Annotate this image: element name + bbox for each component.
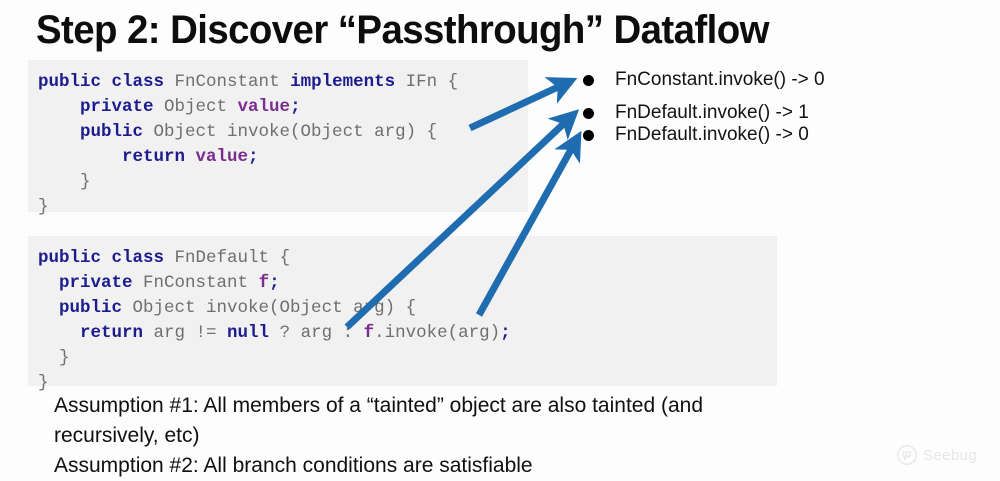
code-line: return value; (38, 145, 528, 170)
code-identifier: arg != (143, 323, 227, 343)
seebug-logo-icon (896, 444, 918, 466)
bullet-icon (583, 75, 594, 86)
trace-label: FnDefault.invoke() -> 1 (615, 102, 809, 124)
code-identifier: FnDefault { (164, 248, 290, 268)
code-identifier: .invoke(arg) (374, 323, 500, 343)
code-line: public Object invoke(Object arg) { (38, 120, 528, 145)
list-item: FnConstant.invoke() -> 0 (583, 68, 825, 92)
code-line: public Object invoke(Object arg) { (38, 296, 777, 321)
bullet-icon (583, 108, 594, 119)
code-identifier: Object (154, 97, 238, 117)
code-line: private Object value; (38, 95, 528, 120)
code-punct: ; (248, 147, 259, 167)
code-keyword: public (80, 122, 143, 142)
code-punct: ; (269, 273, 280, 293)
code-line: public class FnConstant implements IFn { (38, 70, 528, 95)
code-block-fndefault: public class FnDefault { private FnConst… (28, 236, 777, 386)
code-field: value (238, 97, 291, 117)
code-line: private FnConstant f; (38, 271, 777, 296)
code-line: } (38, 170, 528, 195)
trace-label: FnConstant.invoke() -> 0 (615, 69, 825, 91)
code-keyword: public (38, 72, 101, 92)
code-line: } (38, 195, 528, 220)
assumptions-block: Assumption #1: All members of a “tainted… (54, 391, 864, 481)
code-field: value (185, 147, 248, 167)
code-punct: ; (500, 323, 511, 343)
code-line: public class FnDefault { (38, 246, 777, 271)
code-punct: ; (290, 97, 301, 117)
watermark: Seebug (896, 444, 977, 466)
code-keyword: return (122, 147, 185, 167)
page-title: Step 2: Discover “Passthrough” Dataflow (36, 2, 769, 58)
code-keyword: class (112, 248, 165, 268)
code-field: f (259, 273, 270, 293)
code-identifier: Object invoke(Object arg) { (143, 122, 437, 142)
list-item: FnDefault.invoke() -> 0 (583, 123, 809, 147)
code-keyword: return (80, 323, 143, 343)
code-identifier: Object invoke(Object arg) { (122, 298, 416, 318)
code-block-fnconstant: public class FnConstant implements IFn {… (28, 60, 528, 212)
code-identifier: FnConstant (164, 72, 290, 92)
slide-canvas: Step 2: Discover “Passthrough” Dataflow … (0, 0, 1000, 481)
code-keyword: class (112, 72, 165, 92)
code-keyword: null (227, 323, 269, 343)
watermark-label: Seebug (923, 447, 977, 464)
code-line: } (38, 346, 777, 371)
list-item: FnDefault.invoke() -> 1 (583, 101, 809, 125)
code-keyword: private (59, 273, 133, 293)
trace-label: FnDefault.invoke() -> 0 (615, 124, 809, 146)
code-line: return arg != null ? arg : f.invoke(arg)… (38, 321, 777, 346)
assumption-line-1: Assumption #1: All members of a “tainted… (54, 391, 864, 421)
code-identifier: ? arg : (269, 323, 364, 343)
code-identifier: IFn { (395, 72, 458, 92)
code-keyword: public (59, 298, 122, 318)
code-keyword: public (38, 248, 101, 268)
code-keyword: implements (290, 72, 395, 92)
bullet-icon (583, 130, 594, 141)
assumption-line-3: Assumption #2: All branch conditions are… (54, 451, 864, 481)
code-identifier: FnConstant (133, 273, 259, 293)
code-keyword: private (80, 97, 154, 117)
assumption-line-2: recursively, etc) (54, 421, 864, 451)
code-field: f (364, 323, 375, 343)
